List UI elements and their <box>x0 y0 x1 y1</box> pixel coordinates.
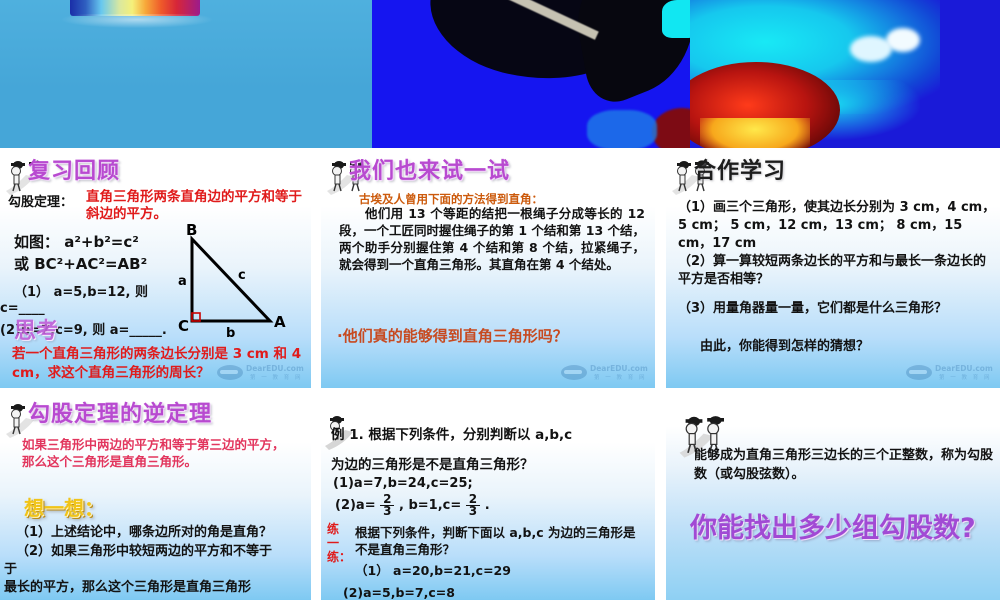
slide-2-body: 他们用 13 个等距的结把一根绳子分成等长的 12 段，一个工匠同时握住绳子的第… <box>339 205 645 273</box>
example-heading: 例 1. 根据下列条件，分别判断以 a,b,c <box>331 426 647 445</box>
slide-4-title: 勾股定理的逆定理 <box>28 398 212 428</box>
watermark-brand: DearEDU.com <box>935 364 993 373</box>
slide-4-question-2b: 最长的平方，那么这个三角形是直角三角形 <box>4 579 311 597</box>
slide-3-title: 合作学习 <box>694 155 786 185</box>
slide-1-title: 复习回顾 <box>28 155 120 185</box>
watermark: DearEDU.com 第 一 教 育 网 <box>561 364 647 382</box>
watermark: DearEDU.com 第 一 教 育 网 <box>906 364 992 382</box>
slide-thumbnail-3[interactable]: 合作学习 （1）画三个三角形，使其边长分别为 3 cm，4 cm，5 cm； 5… <box>666 155 1000 388</box>
slide-thumbnail-4[interactable]: 勾股定理的逆定理 如果三角形中两边的平方和等于第三边的平方，那么这个三角形是直角… <box>0 398 311 600</box>
svg-text:C: C <box>178 317 189 335</box>
watermark-sub: 第 一 教 育 网 <box>594 373 647 381</box>
books-photo <box>0 0 372 148</box>
practice-item-1: （1） a=20,b=21,c=29 <box>355 562 647 579</box>
watermark-logo-icon <box>561 365 587 380</box>
cond2-suffix: . <box>485 498 490 513</box>
slide-4-question-1: （1）上述结论中，哪条边所对的角是直角？ <box>16 524 311 542</box>
book-reflection <box>62 14 212 28</box>
cond2-mid: , b=1,c= <box>399 498 461 513</box>
watermark-sub: 第 一 教 育 网 <box>939 373 992 381</box>
fraction-two-thirds-a: 23 <box>380 494 394 517</box>
cond2-prefix: (2)a= <box>335 498 376 513</box>
slide-thumbnail-2[interactable]: 我们也来试一试 古埃及人曾用下面的方法得到直角： 他们用 13 个等距的结把一根… <box>321 155 655 388</box>
right-triangle-diagram: B A C a b c <box>170 221 300 341</box>
slide-2-header: 我们也来试一试 <box>321 155 655 189</box>
svg-text:a: a <box>178 274 187 289</box>
example-condition-2: (2)a= 23 , b=1,c= 23 . <box>335 494 490 517</box>
colorful-nebula-photo <box>690 0 1000 148</box>
practice-label: 练 一 练： <box>327 522 349 564</box>
fraction-two-thirds-b: 23 <box>466 494 480 517</box>
slide-6-definition: 能够成为直角三角形三边长的三个正整数，称为勾股数（或勾股弦数）。 <box>694 446 994 484</box>
watermark-brand: DearEDU.com <box>246 364 304 373</box>
theorem-statement: 直角三角形两条直角边的平方和等于斜边的平方。 <box>86 189 304 223</box>
slide-2-ask: ·他们真的能够得到直角三角形吗？ <box>337 325 647 346</box>
slide-1-header: 复习回顾 <box>0 155 311 189</box>
slide-thumbnail-6[interactable]: 能够成为直角三角形三边长的三个正整数，称为勾股数（或勾股弦数）。 你能找出多少组… <box>666 398 1000 600</box>
watermark-sub: 第 一 教 育 网 <box>250 373 303 381</box>
slide-grid: 复习回顾 勾股定理： 直角三角形两条直角边的平方和等于斜边的平方。 如图： a²… <box>0 0 1000 600</box>
slide-3-item-4: 由此，你能得到怎样的猜想？ <box>700 335 1000 354</box>
slide-3-header: 合作学习 <box>666 155 1000 189</box>
example-condition-1: (1)a=7,b=24,c=25; <box>333 476 473 491</box>
slide-4-header: 勾股定理的逆定理 <box>0 398 311 432</box>
slide-6-big-question: 你能找出多少组勾股数? <box>690 506 1000 545</box>
example-heading-2: 为边的三角形是不是直角三角形？ <box>331 456 647 475</box>
slide-4-question-2: （2）如果三角形中较短两边的平方和不等于 <box>16 543 311 561</box>
slide-2-title: 我们也来试一试 <box>349 155 510 185</box>
question-1: （1） a=5,b=12, 则 <box>14 281 148 300</box>
theorem-label: 勾股定理： <box>8 191 73 210</box>
slide-3-item-1: （1）画三个三角形，使其边长分别为 3 cm，4 cm，5 cm； 5 cm，1… <box>678 199 996 253</box>
think-stamp: 思考 <box>14 313 58 345</box>
top-image-strip <box>0 0 1000 148</box>
svg-text:b: b <box>226 326 235 341</box>
watermark-logo-icon <box>217 365 243 380</box>
slide-3-item-2: （2）算一算较短两条边长的平方和与最长一条边长的平方是否相等？ <box>678 253 996 289</box>
svg-text:B: B <box>186 221 197 239</box>
svg-text:A: A <box>274 313 286 331</box>
svg-text:c: c <box>238 268 246 283</box>
slide-3-item-3: （3）用量角器量一量，它们都是什么三角形？ <box>678 297 996 316</box>
think-label: 想一想： <box>24 492 104 521</box>
slide-thumbnail-1[interactable]: 复习回顾 勾股定理： 直角三角形两条直角边的平方和等于斜边的平方。 如图： a²… <box>0 155 311 388</box>
watermark-brand: DearEDU.com <box>590 364 648 373</box>
converse-theorem: 如果三角形中两边的平方和等于第三边的平方，那么这个三角形是直角三角形。 <box>22 436 294 470</box>
practice-body: 根据下列条件，判断下面以 a,b,c 为边的三角形是不是直角三角形？ <box>355 524 647 558</box>
practice-item-2: (2)a=5,b=7,c=8 <box>343 584 635 600</box>
watermark-logo-icon <box>906 365 932 380</box>
blue-abstract-photo <box>372 0 690 148</box>
slide-thumbnail-5[interactable]: 例 1. 根据下列条件，分别判断以 a,b,c 为边的三角形是不是直角三角形？ … <box>321 398 655 600</box>
figure-formula-2: 或 BC²+AC²=AB² <box>14 253 194 275</box>
figure-formula-1: 如图： a²+b²=c² <box>14 231 194 253</box>
watermark: DearEDU.com 第 一 教 育 网 <box>217 364 303 382</box>
